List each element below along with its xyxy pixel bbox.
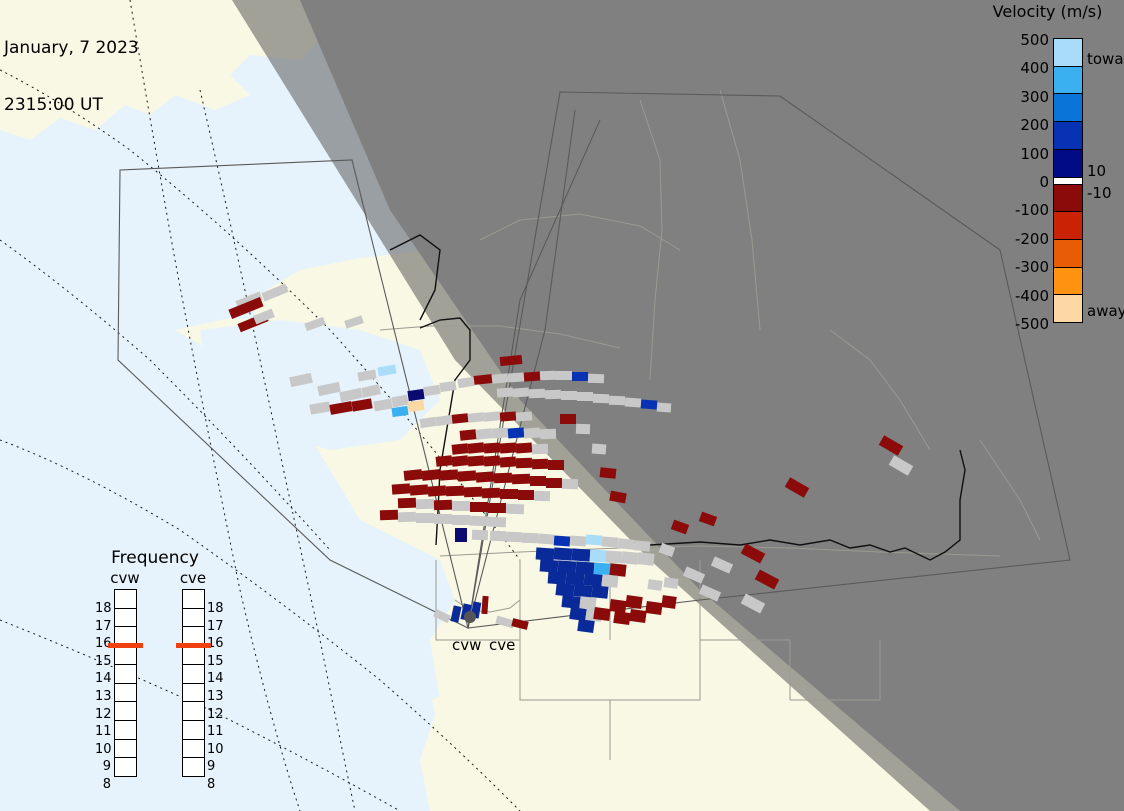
backscatter-cell xyxy=(524,427,541,438)
colorbar-band xyxy=(1054,178,1082,185)
backscatter-cell xyxy=(600,467,617,479)
colorbar-band xyxy=(1054,185,1082,213)
radar-site-marker xyxy=(464,611,476,623)
backscatter-cell xyxy=(440,469,459,480)
gauge-segment xyxy=(183,758,204,776)
backscatter-cell xyxy=(532,459,548,470)
gauge-scale-label: 12 xyxy=(95,708,111,721)
colorbar-tick: 0 xyxy=(975,175,1049,190)
backscatter-cell xyxy=(558,560,577,573)
backscatter-cell xyxy=(474,374,493,385)
gauge-segment xyxy=(115,702,136,721)
backscatter-cell xyxy=(497,387,514,397)
backscatter-cell xyxy=(629,609,647,623)
gauge-segment xyxy=(115,740,136,759)
backscatter-cell xyxy=(472,530,488,541)
velocity-colorbar: Velocity (m/s) 5004003002001000-100-200-… xyxy=(975,0,1124,340)
gauge-scale-label: 11 xyxy=(95,725,111,738)
backscatter-cell xyxy=(404,469,423,481)
colorbar-band xyxy=(1054,122,1082,150)
backscatter-cell xyxy=(410,484,429,495)
backscatter-cell xyxy=(609,599,627,613)
backscatter-cell xyxy=(606,550,623,563)
backscatter-cell xyxy=(625,595,643,609)
backscatter-cell xyxy=(470,516,488,527)
backscatter-cell xyxy=(637,552,654,566)
gauge-scale-label: 9 xyxy=(207,760,223,773)
gauge-scale-label: 10 xyxy=(95,743,111,756)
backscatter-cell xyxy=(446,486,464,497)
backscatter-cell xyxy=(434,514,452,524)
backscatter-cell xyxy=(484,411,501,422)
time-label: 2315:00 UT xyxy=(4,96,139,115)
backscatter-cell xyxy=(573,584,592,598)
backscatter-cell xyxy=(380,510,398,521)
backscatter-cell xyxy=(492,427,509,438)
gauge-scale-label: 18 xyxy=(207,602,223,615)
frequency-gauge-cve: cve 18171615141312111098 xyxy=(163,570,223,785)
backscatter-cell xyxy=(468,455,485,466)
backscatter-cell xyxy=(452,455,469,467)
backscatter-cell xyxy=(532,444,548,455)
backscatter-cell xyxy=(494,473,512,484)
backscatter-cell xyxy=(500,442,517,453)
backscatter-cell xyxy=(590,549,609,562)
backscatter-cell xyxy=(436,455,453,467)
backscatter-cell xyxy=(530,476,546,486)
backscatter-cell xyxy=(593,607,611,621)
gauge-segment xyxy=(183,646,204,665)
colorbar-band xyxy=(1054,295,1082,322)
backscatter-cell xyxy=(452,413,469,424)
backscatter-cell xyxy=(508,372,525,382)
backscatter-cell xyxy=(452,443,469,455)
backscatter-cell xyxy=(545,390,561,400)
backscatter-cell xyxy=(452,501,470,511)
radar-site-label-cve: cve xyxy=(489,636,515,654)
colorbar-band xyxy=(1054,39,1082,67)
gauge-marker-cve xyxy=(176,643,211,648)
timestamp-block: January, 7 2023 2315:00 UT xyxy=(4,1,139,153)
gauge-segment xyxy=(183,740,204,759)
backscatter-cell xyxy=(641,399,658,409)
colorbar-toward-label: toward xyxy=(1087,52,1124,67)
gauge-segment xyxy=(183,721,204,740)
gauge-scale-cve: 18171615141312111098 xyxy=(207,582,223,787)
gauge-scale-label: 14 xyxy=(207,672,223,685)
backscatter-cell xyxy=(556,371,572,380)
backscatter-cell xyxy=(484,455,501,466)
colorbar-tick: 500 xyxy=(975,33,1049,48)
colorbar-tick-labels: 5004003002001000-100-200-300-400-500 xyxy=(975,0,1049,340)
backscatter-cell xyxy=(468,412,485,423)
gauge-body-cvw xyxy=(114,589,137,777)
gauge-scale-label: 17 xyxy=(95,620,111,633)
backscatter-cell xyxy=(522,533,538,544)
backscatter-cell xyxy=(561,391,577,400)
backscatter-cell xyxy=(594,562,611,575)
backscatter-cell xyxy=(500,489,518,499)
backscatter-cell xyxy=(500,411,517,421)
backscatter-cell xyxy=(560,414,576,424)
backscatter-cell xyxy=(540,371,556,381)
backscatter-cell xyxy=(460,429,477,441)
backscatter-cell xyxy=(555,583,574,597)
colorbar-tick: 100 xyxy=(975,147,1049,162)
backscatter-cell xyxy=(476,428,493,440)
colorbar-away-label: away xyxy=(1087,304,1124,319)
backscatter-cell xyxy=(546,478,562,488)
backscatter-cell xyxy=(470,502,488,512)
frequency-title: Frequency xyxy=(85,548,225,568)
gauge-body-cve xyxy=(182,589,205,777)
colorbar-band xyxy=(1054,150,1082,178)
backscatter-cell xyxy=(534,491,550,502)
backscatter-cell xyxy=(506,504,524,515)
backscatter-cell xyxy=(428,485,447,496)
colorbar-zero-upper-label: 10 xyxy=(1087,164,1106,179)
radar-fan-plot: January, 7 2023 2315:00 UT Velocity (m/s… xyxy=(0,0,1124,811)
backscatter-cell xyxy=(529,389,545,399)
gauge-segment xyxy=(183,590,204,609)
backscatter-cell xyxy=(569,607,587,621)
backscatter-cell xyxy=(398,512,416,523)
gauge-segment xyxy=(115,721,136,740)
backscatter-cell xyxy=(576,424,590,434)
colorbar-zero-lower-label: -10 xyxy=(1087,186,1112,201)
backscatter-cell xyxy=(663,577,678,589)
backscatter-cell xyxy=(455,528,467,542)
backscatter-cell xyxy=(576,561,595,574)
colorbar-tick: -200 xyxy=(975,232,1049,247)
frequency-gauge-cvw: cvw 18171615141312111098 xyxy=(95,570,155,785)
gauge-segment xyxy=(115,590,136,609)
backscatter-cell xyxy=(548,460,564,470)
backscatter-cell xyxy=(488,503,506,513)
colorbar-tick: 400 xyxy=(975,61,1049,76)
backscatter-cell xyxy=(548,571,567,584)
frequency-panel: Frequency cvw 18171615141312111098 cve 1… xyxy=(85,545,255,790)
backscatter-cell xyxy=(492,373,509,384)
backscatter-cell xyxy=(490,531,506,542)
colorbar-tick: -400 xyxy=(975,289,1049,304)
gauge-scale-label: 8 xyxy=(207,778,223,791)
gauge-scale-label: 17 xyxy=(207,620,223,633)
backscatter-cell xyxy=(482,488,500,499)
backscatter-cell xyxy=(572,372,588,381)
backscatter-cell xyxy=(540,429,556,440)
gauge-segment xyxy=(115,684,136,703)
backscatter-cell xyxy=(577,619,595,633)
gauge-marker-cvw xyxy=(108,643,143,648)
backscatter-cell xyxy=(524,371,543,381)
colorbar-tick: 200 xyxy=(975,118,1049,133)
gauge-scale-label: 15 xyxy=(95,655,111,668)
backscatter-cell xyxy=(536,547,555,560)
backscatter-cell xyxy=(488,517,506,528)
backscatter-cell xyxy=(500,456,517,467)
colorbar-tick: -100 xyxy=(975,203,1049,218)
backscatter-cell xyxy=(416,513,434,523)
gauge-scale-label: 14 xyxy=(95,672,111,685)
backscatter-cell xyxy=(601,574,618,588)
backscatter-cell xyxy=(506,532,522,543)
backscatter-cell xyxy=(583,573,602,587)
colorbar-band xyxy=(1054,268,1082,296)
backscatter-cell xyxy=(591,585,608,599)
backscatter-cell xyxy=(484,442,501,453)
gauge-scale-label: 10 xyxy=(207,743,223,756)
gauge-segment xyxy=(115,609,136,628)
backscatter-cell xyxy=(618,538,635,550)
colorbar-tick: -300 xyxy=(975,260,1049,275)
backscatter-cell xyxy=(458,470,477,481)
gauge-scale-label: 18 xyxy=(95,602,111,615)
gauge-segment xyxy=(183,609,204,628)
gauge-segment xyxy=(183,665,204,684)
backscatter-cell xyxy=(657,403,672,413)
gauge-scale-label: 13 xyxy=(207,690,223,703)
backscatter-cell xyxy=(634,540,651,552)
backscatter-cell xyxy=(540,559,559,572)
colorbar-gradient xyxy=(1053,38,1083,323)
backscatter-cell xyxy=(516,458,532,469)
backscatter-cell xyxy=(661,595,677,609)
gauge-scale-label: 8 xyxy=(95,778,111,791)
gauge-scale-label: 11 xyxy=(207,725,223,738)
backscatter-cell xyxy=(554,547,573,560)
backscatter-cell xyxy=(468,442,485,454)
colorbar-tick: -500 xyxy=(975,317,1049,332)
backscatter-cell xyxy=(577,392,593,401)
backscatter-cell xyxy=(464,487,482,498)
gauge-segment xyxy=(115,758,136,776)
colorbar-band xyxy=(1054,240,1082,268)
backscatter-cell xyxy=(513,387,530,397)
backscatter-cell xyxy=(554,535,571,546)
backscatter-cell xyxy=(609,563,626,577)
backscatter-cell xyxy=(572,548,591,561)
backscatter-cell xyxy=(602,536,619,547)
backscatter-cell xyxy=(586,534,603,545)
backscatter-cell xyxy=(647,579,662,591)
colorbar-band xyxy=(1054,212,1082,240)
gauge-scale-label: 12 xyxy=(207,708,223,721)
gauge-scale-cvw: 18171615141312111098 xyxy=(95,582,111,787)
gauge-segment xyxy=(115,665,136,684)
backscatter-cell xyxy=(476,471,495,482)
backscatter-cell xyxy=(512,474,530,485)
backscatter-cell xyxy=(566,572,585,585)
backscatter-cell xyxy=(516,411,533,421)
gauge-segment xyxy=(115,646,136,665)
backscatter-cell xyxy=(392,483,411,494)
gauge-scale-label: 9 xyxy=(95,760,111,773)
backscatter-cell xyxy=(645,601,663,615)
backscatter-cell xyxy=(538,533,555,544)
radar-site-label-cvw: cvw xyxy=(452,636,481,654)
backscatter-cell xyxy=(416,499,434,510)
gauge-segment xyxy=(183,702,204,721)
colorbar-band xyxy=(1054,94,1082,122)
backscatter-cell xyxy=(452,515,470,525)
backscatter-cell xyxy=(621,551,638,565)
backscatter-cell xyxy=(561,595,580,609)
backscatter-cell xyxy=(508,427,525,438)
backscatter-cell xyxy=(434,500,452,511)
colorbar-tick: 300 xyxy=(975,90,1049,105)
backscatter-cell xyxy=(609,396,625,406)
colorbar-band xyxy=(1054,67,1082,95)
gauge-segment xyxy=(183,684,204,703)
backscatter-cell xyxy=(562,479,578,490)
backscatter-cell xyxy=(516,442,533,453)
backscatter-cell xyxy=(579,596,596,610)
backscatter-cell xyxy=(570,535,587,546)
backscatter-cell xyxy=(593,394,609,404)
backscatter-cell xyxy=(625,397,642,407)
backscatter-cell xyxy=(422,469,441,481)
backscatter-cell xyxy=(613,611,631,625)
gauge-scale-label: 15 xyxy=(207,655,223,668)
backscatter-cell xyxy=(398,498,416,509)
backscatter-cell xyxy=(481,596,488,614)
backscatter-cell xyxy=(588,374,604,384)
backscatter-cell xyxy=(518,490,534,500)
backscatter-cell xyxy=(592,444,607,455)
gauge-scale-label: 13 xyxy=(95,690,111,703)
date-label: January, 7 2023 xyxy=(4,39,139,58)
